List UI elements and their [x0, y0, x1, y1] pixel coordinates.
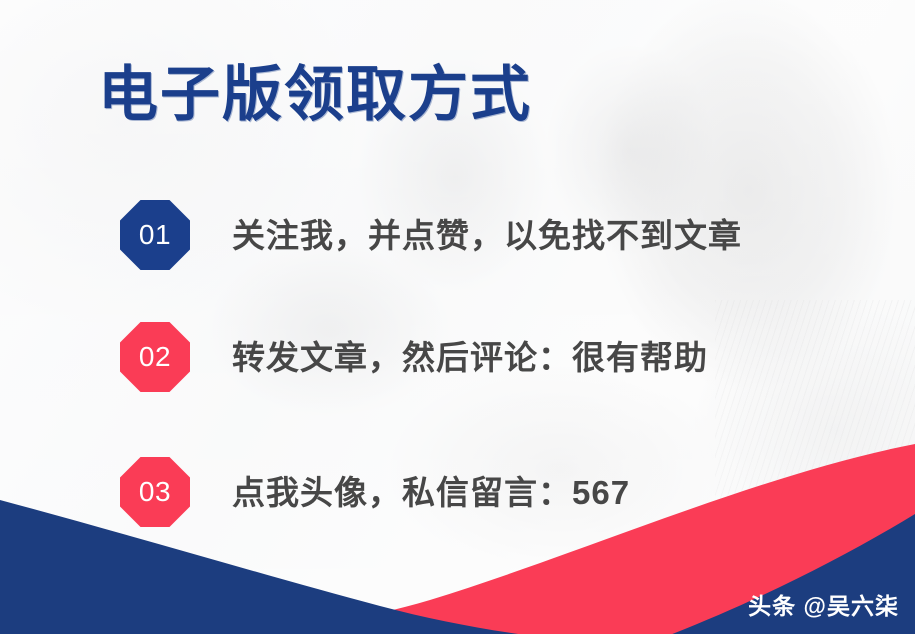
list-item-03[interactable]: 03 点我头像，私信留言：567: [120, 457, 630, 527]
footer-watermark: 头条 @吴六柒: [748, 587, 899, 621]
step-number-02: 02: [139, 343, 171, 371]
slide-canvas: 电子版领取方式 01 关注我，并点赞，以免找不到文章 02 转发文章，然后评论：…: [0, 0, 915, 634]
step-badge-02: 02: [120, 322, 190, 392]
list-item-01[interactable]: 01 关注我，并点赞，以免找不到文章: [120, 200, 742, 270]
step-text-03: 点我头像，私信留言：567: [232, 476, 630, 509]
step-badge-03: 03: [120, 457, 190, 527]
step-text-01: 关注我，并点赞，以免找不到文章: [232, 219, 742, 252]
step-badge-01: 01: [120, 200, 190, 270]
list-item-02[interactable]: 02 转发文章，然后评论：很有帮助: [120, 322, 708, 392]
step-number-01: 01: [139, 221, 171, 249]
step-text-02: 转发文章，然后评论：很有帮助: [232, 341, 708, 374]
step-number-03: 03: [139, 478, 171, 506]
page-title: 电子版领取方式: [98, 60, 532, 129]
